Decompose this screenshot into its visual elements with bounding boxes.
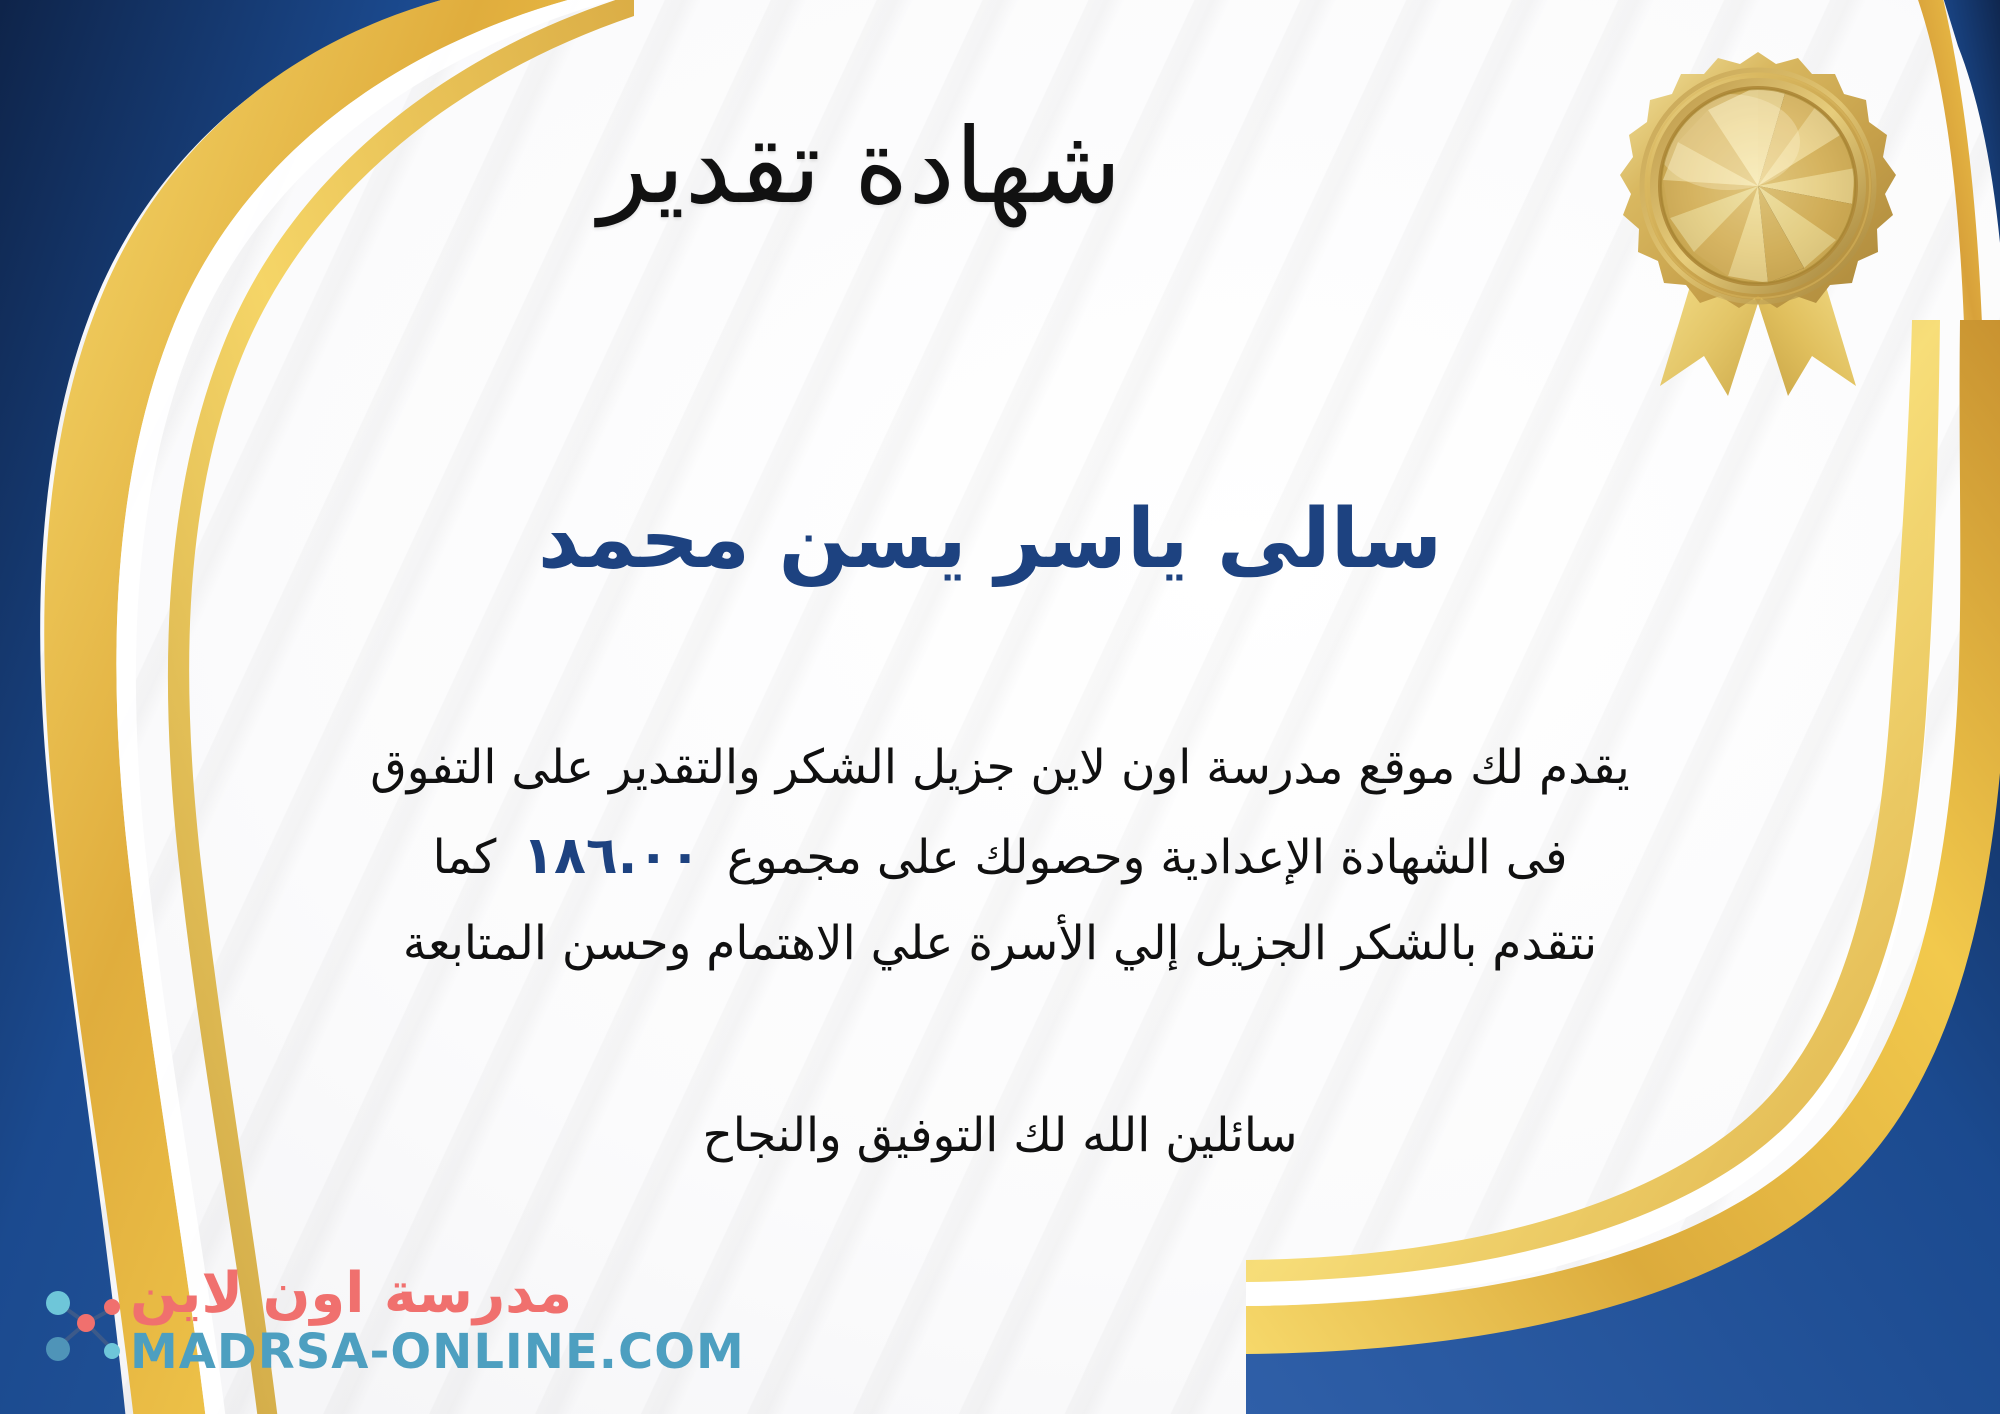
total-score-value: ١٨٦.٠٠ bbox=[496, 826, 726, 886]
award-seal bbox=[1608, 38, 1908, 398]
logo-arabic-name: مدرسة اون لاين bbox=[130, 1266, 572, 1322]
gold-medal-icon bbox=[1608, 38, 1908, 398]
logo-text-group: مدرسة اون لاين MADRSA-ONLINE.COM bbox=[130, 1266, 745, 1376]
body-line-2: فى الشهادة الإعدادية وحصولك على مجموع١٨٦… bbox=[52, 810, 1948, 903]
logo-website-url[interactable]: MADRSA-ONLINE.COM bbox=[130, 1328, 745, 1376]
site-logo[interactable]: مدرسة اون لاين MADRSA-ONLINE.COM bbox=[28, 1266, 745, 1376]
certificate-body: يقدم لك موقع مدرسة اون لاين جزيل الشكر و… bbox=[52, 726, 1948, 986]
recipient-name: سالى ياسر يسن محمد bbox=[0, 492, 2000, 589]
closing-blessing: سائلين الله لك التوفيق والنجاح bbox=[52, 1098, 1948, 1173]
body-line-3: نتقدم بالشكر الجزيل إلي الأسرة علي الاهت… bbox=[52, 902, 1948, 986]
body-line-2-suffix: كما bbox=[433, 830, 497, 885]
certificate-canvas: شهادة تقدير سالى ياسر يسن محمد يقدم لك م… bbox=[0, 0, 2000, 1414]
body-line-2-prefix: فى الشهادة الإعدادية وحصولك على مجموع bbox=[727, 830, 1568, 885]
body-line-1: يقدم لك موقع مدرسة اون لاين جزيل الشكر و… bbox=[52, 726, 1948, 810]
network-nodes-icon bbox=[28, 1273, 120, 1369]
